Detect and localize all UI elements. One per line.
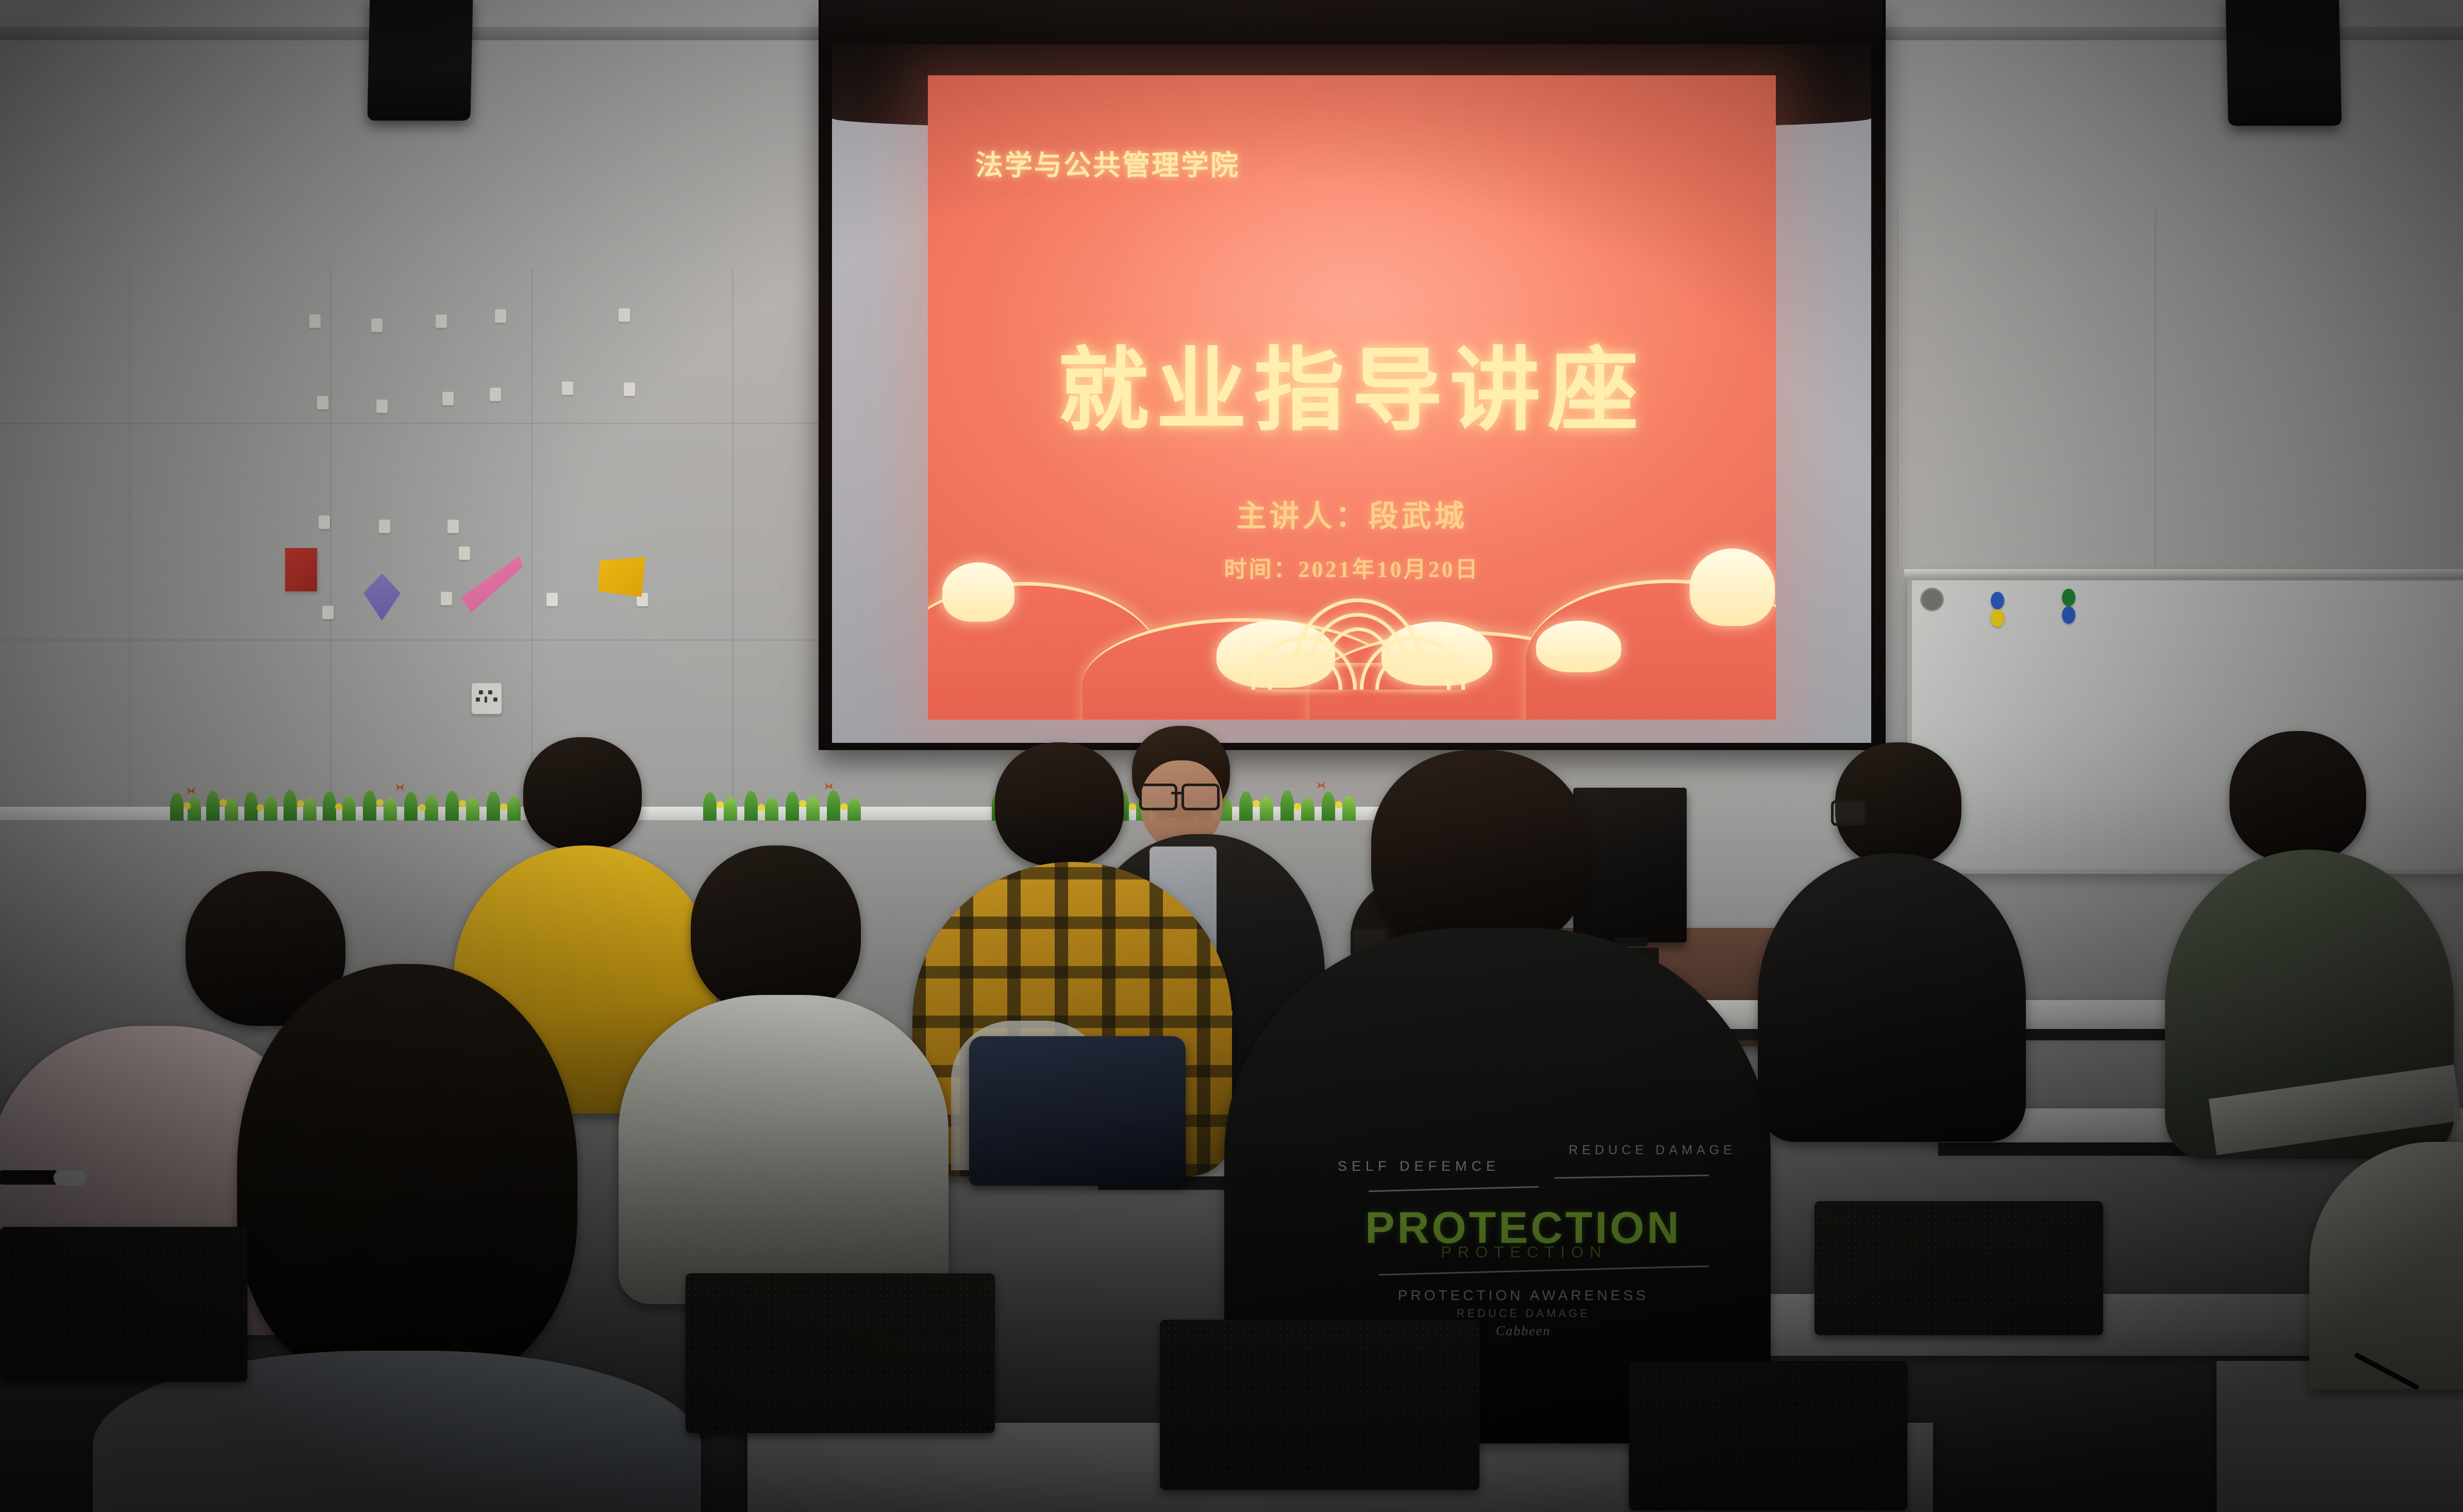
black-jacket-body [1758, 853, 2026, 1142]
slide-main-title: 就业指导讲座 [928, 317, 1776, 448]
wall-tack [441, 592, 452, 605]
chair-back[interactable] [1815, 1201, 2103, 1335]
hoodie-rule [1554, 1174, 1709, 1178]
slide-date-line: 时间：2021年10月20日 [928, 551, 1776, 584]
phone-on-desk[interactable] [0, 1170, 57, 1185]
whiteboard-magnet-blue[interactable] [1991, 592, 2004, 609]
projection-screen-surface: 法学与公共管理学院 就业指导讲座 主讲人：段武城 时间：2021年10月20日 [832, 44, 1871, 743]
chair-back[interactable] [686, 1273, 995, 1433]
ceiling-speaker-right [2225, 0, 2341, 126]
ceiling-speaker-left [367, 0, 473, 121]
wall-tack [436, 314, 447, 328]
hoodie-text-self-defemce: SELF DEFEMCE [1338, 1158, 1500, 1174]
head [2229, 731, 2366, 862]
wall-tack [447, 520, 459, 533]
hoodie-rule [1369, 1186, 1539, 1192]
presenter-glasses-bridge [1171, 792, 1183, 794]
wall-tack [442, 392, 454, 405]
hoodie-text-reduce-damage-top: REDUCE DAMAGE [1569, 1143, 1736, 1158]
wall-seam [1897, 206, 1899, 567]
wall-tack [379, 520, 390, 533]
wall-tack [309, 314, 321, 328]
wall-tack [490, 388, 501, 401]
head [523, 737, 642, 851]
audience-glasses-icon [1831, 800, 1866, 826]
podium-monitor [1573, 788, 1687, 942]
wall-tack [619, 308, 630, 322]
chair-back[interactable] [1160, 1320, 1479, 1490]
whiteboard-magnet-blue2[interactable] [2062, 606, 2075, 624]
wall-power-socket[interactable] [472, 683, 502, 714]
presenter-glasses-icon [1139, 784, 1177, 810]
wall-tack [371, 319, 382, 332]
wall-seam [0, 639, 825, 641]
whiteboard-corner-logo-icon [1920, 588, 1944, 611]
presenter-glasses-icon [1181, 784, 1220, 810]
backpack-on-desk [969, 1036, 1186, 1186]
wall-tack [459, 546, 470, 560]
wall-tack [624, 383, 635, 396]
chair-back[interactable] [1629, 1361, 1907, 1510]
projected-slide: 法学与公共管理学院 就业指导讲座 主讲人：段武城 时间：2021年10月20日 [928, 75, 1776, 720]
hoodie-rule [1379, 1266, 1709, 1276]
origami-yellow-square [598, 557, 645, 597]
whiteboard-magnet-yellow[interactable] [1991, 609, 2004, 627]
head [237, 964, 577, 1387]
wall-tack [562, 381, 573, 395]
wall-seam [330, 268, 331, 809]
whiteboard-magnet-green[interactable] [2062, 589, 2075, 606]
wall-tack [317, 396, 328, 409]
slide-speaker-line: 主讲人：段武城 [928, 492, 1776, 535]
head [1371, 750, 1588, 951]
whiteboard-tray [1904, 569, 2463, 579]
wall-tack [319, 516, 330, 529]
hoodie-text-reduce-damage: REDUCE DAMAGE [1312, 1307, 1735, 1320]
hoodie-text-protection-sub: PROTECTION [1441, 1243, 1607, 1261]
wall-seam [0, 423, 825, 424]
slide-mountain-decoration [928, 503, 1776, 720]
wall-tack [495, 309, 506, 323]
projection-screen-housing [821, 0, 1883, 52]
wall-seam [531, 268, 532, 809]
head [995, 742, 1124, 866]
classroom-photo-scene: 法学与公共管理学院 就业指导讲座 主讲人：段武城 时间：2021年10月20日 [0, 0, 2463, 1512]
wall-seam [2155, 206, 2156, 567]
hoodie-text-awareness: PROTECTION AWARENESS [1312, 1287, 1735, 1304]
wall-seam [129, 268, 130, 809]
origami-red [285, 548, 317, 591]
wall-tack [546, 593, 558, 606]
chair-back[interactable] [0, 1227, 247, 1382]
cream-coat-body [619, 995, 948, 1304]
wall-tack [376, 400, 388, 413]
wall-tack [322, 606, 334, 619]
hoodie-graphic-print: SELF DEFEMCE REDUCE DAMAGE PROTECTION PR… [1312, 1137, 1735, 1338]
slide-organization-label: 法学与公共管理学院 [975, 142, 1240, 183]
head [691, 845, 861, 1016]
slide-cloud [1536, 621, 1621, 672]
wall-seam [732, 268, 734, 809]
white-object-on-desk [54, 1170, 87, 1186]
